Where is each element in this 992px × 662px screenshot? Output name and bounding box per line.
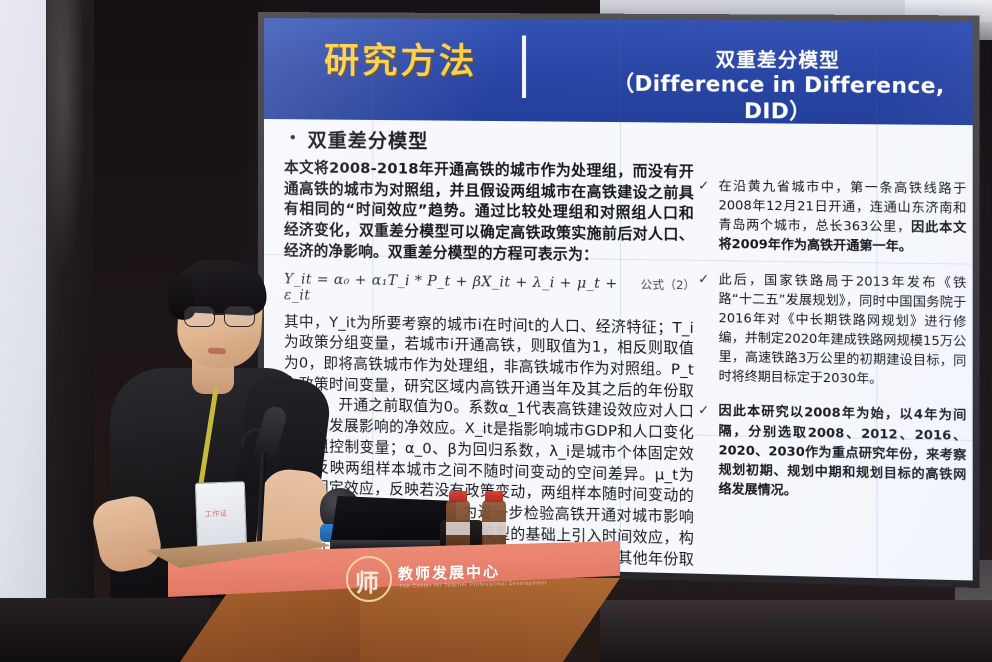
bottle-cap: [449, 491, 467, 502]
lens-left: [184, 306, 215, 327]
left-wall: [0, 0, 46, 662]
eyeglasses-icon: [184, 306, 256, 326]
right-bullet-1: ✓ 在沿黄九省城市中，第一条高铁线路于2008年12月21日开通，连通山东济南和…: [698, 176, 966, 257]
screen-seam: [372, 19, 373, 566]
screen-seam: [620, 20, 621, 572]
floor: [600, 600, 992, 662]
right-bullet-1-text: 在沿黄九省城市中，第一条高铁线路于2008年12月21日开通，连通山东济南和青岛…: [719, 176, 967, 257]
teacher-center-logo-icon: [346, 556, 392, 602]
right-bullet-2: ✓ 此后，国家铁路局于2013年发布《铁路“十二五”发展规划》，同时中国国务院于…: [698, 269, 966, 390]
left-bullet-heading: • 双重差分模型: [290, 125, 694, 156]
right-bullet-2-text: 此后，国家铁路局于2013年发布《铁路“十二五”发展规划》，同时中国国务院于20…: [719, 269, 967, 390]
left-bullet-heading-text: 双重差分模型: [308, 125, 429, 153]
formula-label: 公式（2）: [640, 276, 693, 293]
slide-title: 研究方法: [324, 32, 477, 84]
bottle-label: [482, 522, 506, 535]
bottle-cap: [485, 491, 503, 502]
right-bullet-3-text: 因此本研究以2008年为始，以4年为间隔，分别选取2008、2012、2016、…: [719, 401, 967, 504]
projection-screen: 研究方法 双重差分模型 （Difference in Difference, D…: [264, 18, 973, 581]
floor-left: [0, 598, 210, 662]
slide-subtitle: 双重差分模型 （Difference in Difference, DID）: [597, 48, 960, 126]
name-badge: 工作证: [195, 481, 247, 551]
slide-subtitle-line2: （Difference in Difference, DID）: [597, 71, 960, 126]
left-paragraph-1: 本文将2008-2018年开通高铁的城市作为处理组，而没有开通高铁的城市为对照组…: [284, 158, 694, 267]
pillar-reflection: [48, 0, 88, 300]
bullet-dot-icon: •: [290, 125, 296, 147]
presentation-photo-scene: 研究方法 双重差分模型 （Difference in Difference, D…: [0, 0, 992, 662]
formula-row: Y_it = α₀ + α₁T_i * P_t + βX_it + λ_i + …: [284, 271, 694, 309]
lens-right: [224, 306, 255, 327]
laptop-lid: [330, 496, 456, 546]
check-icon: ✓: [698, 176, 709, 194]
bottle-label: [446, 522, 470, 535]
name-badge-text: 工作证: [205, 509, 228, 520]
check-icon: ✓: [698, 400, 709, 418]
screen-seam: [876, 21, 877, 578]
right-bullet-3: ✓ 因此本研究以2008年为始，以4年为间隔，分别选取2008、2012、201…: [698, 400, 966, 503]
check-icon: ✓: [698, 269, 709, 287]
did-formula: Y_it = α₀ + α₁T_i * P_t + βX_it + λ_i + …: [284, 271, 641, 308]
glasses-bridge: [213, 313, 224, 315]
title-divider: [522, 35, 526, 98]
speaker-mouth: [208, 347, 226, 354]
slide-header-band: 研究方法 双重差分模型 （Difference in Difference, D…: [264, 18, 973, 125]
slide-right-column: ✓ 在沿黄九省城市中，第一条高铁线路于2008年12月21日开通，连通山东济南和…: [698, 176, 966, 519]
slide-subtitle-line1: 双重差分模型: [597, 48, 960, 74]
